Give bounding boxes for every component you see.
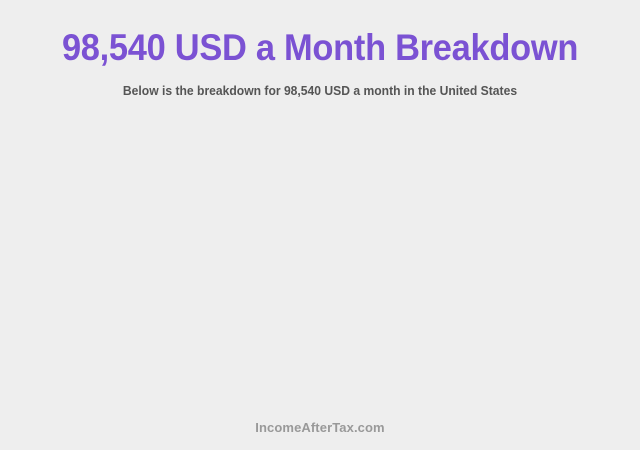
chart-area	[0, 118, 640, 406]
page-title: 98,540 USD a Month Breakdown	[22, 0, 617, 69]
site-watermark: IncomeAfterTax.com	[255, 420, 384, 435]
page-footer: IncomeAfterTax.com	[0, 419, 640, 437]
income-breakdown-page: 98,540 USD a Month Breakdown Below is th…	[0, 0, 640, 450]
page-header: 98,540 USD a Month Breakdown Below is th…	[0, 0, 640, 99]
chart-plot-region	[0, 118, 640, 406]
page-subtitle: Below is the breakdown for 98,540 USD a …	[10, 69, 631, 99]
